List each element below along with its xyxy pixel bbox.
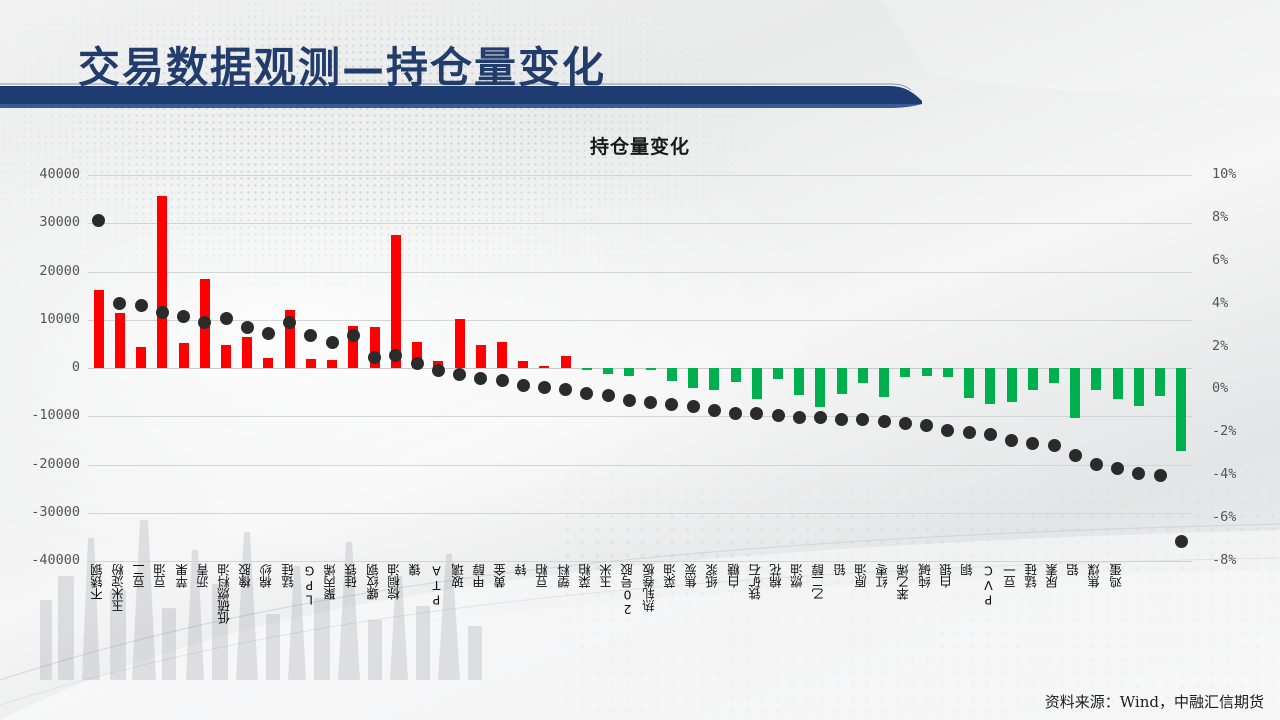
chart-x-axis-labels: 不锈钢玉米淀粉豆二豆油苹果沥青低硫燃料油橡胶棉纱锰硅LPG聚丙烯硅铁螺纹钢棕榈油… — [88, 564, 1192, 674]
chart-bar — [306, 359, 316, 368]
y-axis-left-tick: 30000 — [14, 214, 80, 230]
chart-data-point — [1111, 462, 1124, 475]
chart-data-point — [665, 398, 678, 411]
x-axis-category-label: 聚丙烯 — [325, 564, 338, 600]
chart-data-point — [623, 394, 636, 407]
y-axis-right-tick: -8% — [1212, 552, 1264, 568]
x-axis-category-label: PVC — [983, 564, 996, 608]
x-axis-category-label: 铜 — [962, 564, 975, 576]
chart-plot-area: 400003000020000100000-10000-20000-30000-… — [88, 175, 1192, 561]
x-axis-category-label: 甲醇 — [474, 564, 487, 588]
x-axis-category-label: 豆油 — [155, 564, 168, 588]
chart-data-point — [1090, 458, 1103, 471]
chart-data-point — [220, 312, 233, 325]
chart-bar — [858, 368, 868, 383]
chart-data-point — [1005, 434, 1018, 447]
y-axis-left-tick: -40000 — [14, 552, 80, 568]
chart-bar — [624, 368, 634, 376]
chart-data-point — [814, 411, 827, 424]
chart-bar — [115, 313, 125, 368]
chart-data-point — [984, 428, 997, 441]
chart-bar — [1070, 368, 1080, 418]
gridline — [88, 175, 1192, 176]
chart-data-point — [856, 413, 869, 426]
chart-bar — [136, 347, 146, 368]
x-axis-category-label: 玻璃 — [453, 564, 466, 588]
gridline — [88, 561, 1192, 562]
y-axis-right-tick: 0% — [1212, 380, 1264, 396]
chart-bar — [1091, 368, 1101, 390]
chart-data-point — [899, 417, 912, 430]
chart-bar — [731, 368, 741, 382]
x-axis-category-label: 铁矿石 — [750, 564, 763, 600]
x-axis-category-label: 豆二 — [134, 564, 147, 588]
x-axis-category-label: 原油 — [856, 564, 869, 588]
chart-data-point — [602, 389, 615, 402]
gridline — [88, 416, 1192, 417]
chart-data-point — [389, 349, 402, 362]
chart-bar — [1155, 368, 1165, 396]
x-axis-category-label: 燃油 — [792, 564, 805, 588]
chart-data-point — [496, 374, 509, 387]
chart-data-point — [453, 368, 466, 381]
chart-data-point — [156, 306, 169, 319]
chart-bar — [688, 368, 698, 388]
chart-bar — [709, 368, 719, 390]
chart-data-point — [920, 419, 933, 432]
x-axis-category-label: 棉纱 — [261, 564, 274, 588]
chart-bar — [1049, 368, 1059, 383]
page-title: 交易数据观测—持仓量变化 — [78, 34, 606, 95]
chart-bar — [497, 342, 507, 368]
x-axis-category-label: 镍 — [410, 564, 423, 576]
chart-bar — [964, 368, 974, 398]
chart-bar — [815, 368, 825, 407]
y-axis-right-tick: 8% — [1212, 209, 1264, 225]
chart-bar — [1113, 368, 1123, 399]
chart-data-point — [772, 409, 785, 422]
x-axis-category-label: 热轧卷板 — [644, 564, 657, 612]
chart-data-point — [92, 214, 105, 227]
chart-bar — [879, 368, 889, 397]
x-axis-category-label: 锰硅 — [1026, 564, 1039, 588]
x-axis-category-label: 棉花 — [771, 564, 784, 588]
x-axis-category-label: 尿素 — [1047, 564, 1060, 588]
x-axis-category-label: 锌 — [516, 564, 529, 576]
chart-data-point — [262, 327, 275, 340]
chart-title: 持仓量变化 — [0, 132, 1280, 159]
chart-data-point — [1069, 449, 1082, 462]
y-axis-left-tick: 0 — [14, 359, 80, 375]
slide-root: 交易数据观测—持仓量变化 持仓量变化 400003000020000100000… — [0, 0, 1280, 720]
x-axis-category-label: PTA — [431, 564, 444, 608]
chart-data-point — [793, 411, 806, 424]
chart-data-point — [177, 310, 190, 323]
chart-bar — [476, 345, 486, 368]
chart-bar — [94, 290, 104, 368]
x-axis-category-label: 乙二醇 — [813, 564, 826, 600]
y-axis-left-tick: 40000 — [14, 166, 80, 182]
x-axis-category-label: 豆一 — [1005, 564, 1018, 588]
x-axis-category-label: 锰硅 — [283, 564, 296, 588]
x-axis-category-label: 焦煤 — [1089, 564, 1102, 588]
x-axis-category-label: 沥青 — [198, 564, 211, 588]
chart-data-point — [750, 407, 763, 420]
chart-bar — [561, 356, 571, 368]
x-axis-category-label: LPG — [304, 564, 317, 608]
chart-bar — [157, 196, 167, 368]
x-axis-category-label: 不锈钢 — [92, 564, 105, 600]
chart-data-point — [432, 364, 445, 377]
x-axis-category-label: 纯碱 — [920, 564, 933, 588]
chart-data-point — [241, 321, 254, 334]
chart-bar — [752, 368, 762, 399]
chart-data-point — [1048, 439, 1061, 452]
chart-data-point — [687, 400, 700, 413]
x-axis-category-label: 苹果 — [177, 564, 190, 588]
y-axis-left-tick: -30000 — [14, 504, 80, 520]
y-axis-left-tick: 10000 — [14, 311, 80, 327]
gridline — [88, 320, 1192, 321]
x-axis-category-label: 铝 — [1068, 564, 1081, 576]
chart-bar — [1028, 368, 1038, 390]
chart-data-point — [1175, 535, 1188, 548]
chart-data-point — [878, 415, 891, 428]
chart-bar — [794, 368, 804, 395]
chart-data-point — [135, 299, 148, 312]
chart-bar — [922, 368, 932, 376]
chart-data-point — [326, 336, 339, 349]
x-axis-category-label: 菜油 — [665, 564, 678, 588]
chart-bar — [603, 368, 613, 374]
x-axis-category-label: 低硫燃料油 — [219, 564, 232, 624]
y-axis-right-tick: -4% — [1212, 466, 1264, 482]
chart-data-point — [113, 297, 126, 310]
chart-bar — [327, 360, 337, 368]
chart-bar — [518, 361, 528, 368]
chart-data-point — [474, 372, 487, 385]
x-axis-category-label: 豆粕 — [537, 564, 550, 588]
y-axis-left-tick: -10000 — [14, 407, 80, 423]
chart-bar — [943, 368, 953, 377]
x-axis-category-label: 橡胶 — [240, 564, 253, 588]
chart-bar — [773, 368, 783, 379]
chart-data-point — [963, 426, 976, 439]
gridline — [88, 272, 1192, 273]
gridline — [88, 368, 1192, 369]
chart-bar — [221, 345, 231, 368]
y-axis-right-tick: 10% — [1212, 166, 1264, 182]
x-axis-category-label: 20号胶 — [622, 564, 635, 617]
chart-data-point — [1026, 437, 1039, 450]
chart-bar — [179, 343, 189, 368]
chart-data-point — [411, 357, 424, 370]
y-axis-right-tick: 4% — [1212, 295, 1264, 311]
x-axis-category-label: 焦炭 — [686, 564, 699, 588]
chart-data-point — [368, 351, 381, 364]
chart-bar — [391, 235, 401, 368]
chart-data-point — [835, 413, 848, 426]
source-note: 资料来源：Wind，中融汇信期货 — [1045, 691, 1264, 712]
chart-data-point — [304, 329, 317, 342]
chart-bar — [242, 337, 252, 368]
x-axis-category-label: 硅铁 — [346, 564, 359, 588]
x-axis-category-label: 玉米 — [601, 564, 614, 588]
chart-bar — [985, 368, 995, 404]
chart-data-point — [729, 407, 742, 420]
gridline — [88, 513, 1192, 514]
chart-data-point — [1154, 469, 1167, 482]
x-axis-category-label: 玉米淀粉 — [113, 564, 126, 612]
x-axis-category-label: 铅 — [835, 564, 848, 576]
chart-bar — [837, 368, 847, 394]
x-axis-category-label: 白银 — [941, 564, 954, 588]
chart-bar — [539, 366, 549, 368]
chart-bar — [646, 368, 656, 370]
x-axis-category-label: 鸡蛋 — [1111, 564, 1124, 588]
gridline — [88, 465, 1192, 466]
chart-bar — [667, 368, 677, 381]
y-axis-left-tick: -20000 — [14, 456, 80, 472]
x-axis-category-label: 纸浆 — [707, 564, 720, 588]
chart-bar — [582, 368, 592, 370]
y-axis-right-tick: 6% — [1212, 252, 1264, 268]
chart-bar — [1176, 368, 1186, 451]
chart-bar — [900, 368, 910, 377]
chart-container: 持仓量变化 400003000020000100000-10000-20000-… — [0, 118, 1280, 678]
x-axis-category-label: 白糖 — [729, 564, 742, 588]
y-axis-right-tick: 2% — [1212, 338, 1264, 354]
y-axis-right-tick: -6% — [1212, 509, 1264, 525]
x-axis-category-label: 螺纹钢 — [368, 564, 381, 600]
chart-bar — [455, 319, 465, 368]
chart-bar — [1007, 368, 1017, 402]
x-axis-category-label: 黄金 — [495, 564, 508, 588]
y-axis-right-tick: -2% — [1212, 423, 1264, 439]
x-axis-category-label: 棕榈油 — [389, 564, 402, 600]
chart-data-point — [538, 381, 551, 394]
chart-bar — [1134, 368, 1144, 406]
chart-data-point — [559, 383, 572, 396]
chart-data-point — [580, 387, 593, 400]
chart-bar — [263, 358, 273, 368]
chart-data-point — [517, 379, 530, 392]
chart-data-point — [941, 424, 954, 437]
gridline — [88, 223, 1192, 224]
x-axis-category-label: 红枣 — [877, 564, 890, 588]
chart-data-point — [644, 396, 657, 409]
x-axis-category-label: 塑料 — [559, 564, 572, 588]
y-axis-left-tick: 20000 — [14, 263, 80, 279]
chart-data-point — [1132, 467, 1145, 480]
x-axis-category-label: 菜粕 — [580, 564, 593, 588]
x-axis-category-label: 苯乙烯 — [898, 564, 911, 600]
